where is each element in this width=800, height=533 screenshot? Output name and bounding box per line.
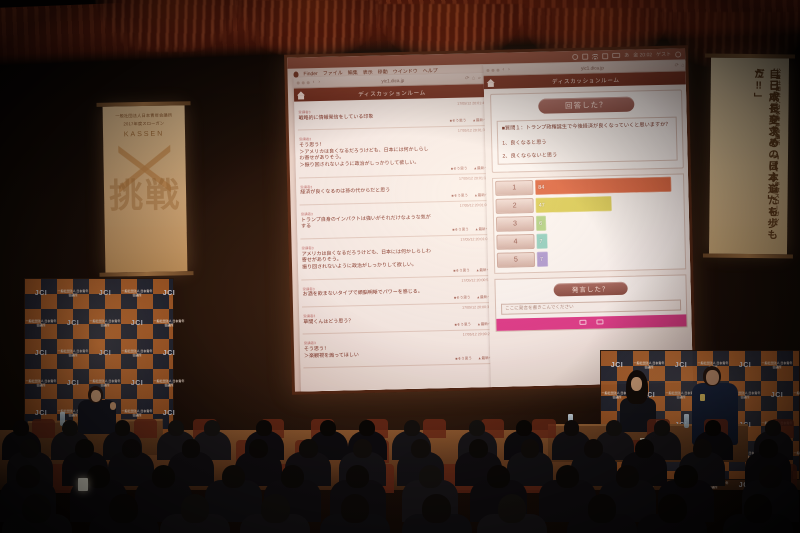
audience-head: [341, 494, 370, 523]
audience-head: [584, 439, 603, 458]
audience-head: [182, 439, 201, 458]
forward-button-right[interactable]: ›: [508, 66, 511, 72]
audience-member: [240, 485, 310, 533]
audience-head: [422, 494, 451, 523]
browser-window-right[interactable]: ‹ › yic1.dica.jp ⟳ ⌂ ディスカッションルーム 回答した？ ■…: [483, 60, 693, 391]
backdrop-tile-org: 一般社団法人 日本青年会議所: [121, 339, 153, 369]
audience-head: [744, 494, 773, 523]
apple-logo-icon[interactable]: [293, 71, 298, 77]
back-button-left[interactable]: ‹: [313, 79, 316, 85]
question-option-1: 1、良くなると思う: [502, 135, 672, 146]
banner-left-subheader: 2017年度スローガン: [103, 120, 185, 128]
banner-left-header: 一般社団法人日本青年会議所: [103, 112, 185, 120]
say-button[interactable]: 発言した？: [554, 282, 628, 297]
poll-bar-fill: 84: [535, 177, 672, 195]
backdrop-tile-org: 一般社団法人 日本青年会議所: [57, 279, 89, 309]
keyboard-icon[interactable]: [596, 320, 603, 325]
agree-button[interactable]: ■そう思う: [451, 194, 468, 199]
backdrop-tile-org: 一般社団法人 日本青年会議所: [25, 309, 57, 339]
projection-screen-frame: あ 金 20:02 ゲスト Finder ファイル 編集 表示 移動 ウインドウ…: [284, 45, 696, 394]
forward-button-left[interactable]: ›: [318, 79, 321, 85]
poll-bar-value: 6: [536, 221, 542, 227]
audience-head: [75, 439, 94, 458]
screenshot-root: 一般社団法人日本青年会議所 2017年度スローガン KASSEN 挑戦 公益社団…: [0, 0, 800, 533]
audience-head: [20, 439, 39, 458]
audience-head: [411, 439, 430, 458]
audience-member: [2, 485, 72, 533]
say-card: 発言した？ ここに発言を書きこんでください: [494, 274, 687, 332]
backdrop-tile-jci: JCI: [121, 369, 153, 399]
backdrop-tile-org: 一般社団法人 日本青年会議所: [793, 381, 800, 411]
audience-member: [402, 485, 472, 533]
poll-bar-row[interactable]: 184: [495, 176, 681, 196]
audience-head: [181, 494, 210, 523]
poll-bar-fill: 7: [536, 234, 548, 249]
audience-head: [122, 439, 141, 458]
poll-bar-row[interactable]: 247: [495, 194, 681, 214]
poll-option-number[interactable]: 1: [495, 180, 533, 196]
menu-finder[interactable]: Finder: [303, 71, 317, 77]
backdrop-tile-org: 一般社団法人 日本青年会議所: [25, 369, 57, 399]
audience-member: [160, 485, 230, 533]
poll-results-chart: 184247364757: [492, 173, 686, 273]
home-icon[interactable]: [297, 91, 305, 99]
wifi-icon[interactable]: [592, 53, 598, 59]
search-icon[interactable]: [675, 51, 681, 57]
question-card: 回答した？ ■質問１：トランプ政権誕生で今後経済が良くなっていくと思いますか？ …: [490, 89, 684, 172]
poll-bar-track: 7: [536, 231, 682, 249]
input-source-icon[interactable]: あ: [624, 52, 629, 59]
reload-icon[interactable]: ⟳: [674, 63, 678, 69]
share-icon[interactable]: ⌂: [472, 75, 475, 81]
reload-icon[interactable]: ⟳: [465, 75, 469, 81]
backdrop-tile-org: 一般社団法人 日本青年会議所: [121, 279, 153, 309]
say-input[interactable]: ここに発言を書きこんでください: [501, 299, 681, 314]
agree-button[interactable]: ■そう思う: [453, 268, 470, 273]
menubar-clock: 金 20:02: [633, 51, 652, 58]
poll-bar-row[interactable]: 36: [496, 212, 682, 232]
backdrop-tile-jci: JCI: [153, 339, 185, 369]
poll-bar-value: 47: [536, 203, 545, 209]
backdrop-tile-jci: JCI: [89, 279, 121, 309]
discussion-post: 17/05/12 20:01:09受講者3トランプ自身のインパクトは強いがそれだ…: [300, 201, 491, 239]
address-bar-left[interactable]: yic1.dica.jp: [324, 76, 462, 84]
poll-option-number[interactable]: 5: [497, 252, 535, 268]
agree-button[interactable]: ■そう思う: [455, 357, 472, 362]
audience-head: [22, 494, 51, 523]
poll-bar-track: 84: [535, 177, 681, 195]
audience-head: [693, 439, 712, 458]
banner-rod: [705, 54, 795, 59]
dropbox-icon[interactable]: [572, 53, 578, 59]
lapel-badge: [700, 394, 705, 401]
airplay-icon[interactable]: [602, 53, 608, 59]
poll-bar-row[interactable]: 57: [497, 248, 683, 268]
backdrop-tile-org: 一般社団法人 日本青年会議所: [57, 339, 89, 369]
home-icon[interactable]: [487, 78, 495, 86]
poll-option-number[interactable]: 3: [496, 216, 534, 232]
audience-head: [249, 439, 268, 458]
audience-head: [109, 494, 138, 523]
backdrop-tile-org: 一般社団法人 日本青年会議所: [153, 369, 185, 399]
backdrop-tile-jci: JCI: [57, 309, 89, 339]
app-title-right: ディスカッションルーム: [552, 75, 620, 85]
audience-head: [498, 494, 527, 523]
audience-head: [353, 439, 372, 458]
audience-head: [658, 494, 687, 523]
audience-head: [588, 494, 617, 523]
discussion-post: 17/05/12 20:01:00受講者3アメリカは良くなるだろうけども、日本に…: [300, 235, 491, 280]
audience-head: [521, 439, 540, 458]
camera-icon[interactable]: [579, 320, 586, 325]
backdrop-tile-jci: JCI: [25, 339, 57, 369]
poll-option-number[interactable]: 2: [496, 198, 534, 214]
poll-panel: 回答した？ ■質問１：トランプ政権誕生で今後経済が良くなっていくと思いますか？ …: [484, 84, 693, 391]
poll-bar-value: 84: [535, 185, 544, 191]
share-icon[interactable]: ⌂: [681, 62, 684, 68]
audience-member: [567, 485, 637, 533]
app-title-left: ディスカッションルーム: [358, 88, 426, 98]
audience-member: [637, 485, 707, 533]
traffic-lights-icon[interactable]: [297, 81, 310, 84]
audience-phone-screen: [78, 478, 88, 491]
traffic-lights-icon[interactable]: [486, 68, 499, 71]
menubar-user[interactable]: ゲスト: [656, 51, 671, 58]
poll-bar-row[interactable]: 47: [496, 230, 682, 250]
address-bar-right[interactable]: yic1.dica.jp: [514, 63, 671, 72]
post-body: そう思う！ ＞アメリカは良くなるだろうけども、日本には何かしらし わ寄せがありそ…: [299, 138, 488, 169]
banner-left-kanji: 挑戦: [104, 167, 187, 217]
audience-member: [320, 485, 390, 533]
backdrop-tile-jci: JCI: [153, 279, 185, 309]
poll-bar-fill: 47: [535, 196, 612, 213]
backdrop-tile-jci: JCI: [25, 279, 57, 309]
backdrop-tile-org: 一般社団法人 日本青年会議所: [153, 309, 185, 339]
discussion-post: 17/05/12 20:00:21受講者3そう思う！ ＞楽観視を煽ってほしい■そ…: [303, 330, 494, 368]
back-button-right[interactable]: ‹: [502, 67, 505, 73]
audience: [0, 415, 800, 533]
agree-button[interactable]: ■そう思う: [455, 323, 472, 328]
banner-rod: [96, 101, 190, 107]
backdrop-tile-jci: JCI: [761, 381, 793, 411]
audience-head: [299, 439, 318, 458]
agree-button[interactable]: ■そう思う: [452, 228, 469, 233]
poll-bar-fill: 6: [536, 216, 546, 231]
agree-button[interactable]: ■そう思う: [451, 166, 468, 171]
audience-member: [723, 485, 793, 533]
mobile-toolbar: [496, 314, 686, 330]
audience-head: [469, 439, 488, 458]
backdrop-tile-org: 一般社団法人 日本青年会議所: [761, 351, 793, 381]
poll-bar-track: 7: [537, 249, 683, 267]
poll-option-number[interactable]: 4: [496, 234, 534, 250]
audience-member: [89, 485, 159, 533]
question-box: ■質問１：トランプ政権誕生で今後経済が良くなっていくと思いますか？ 1、良くなる…: [497, 117, 678, 165]
poll-bar-fill: 7: [537, 252, 549, 267]
banner-left: 一般社団法人日本青年会議所 2017年度スローガン KASSEN 挑戦: [103, 105, 188, 272]
discussion-feed[interactable]: 17/05/12 20:01:49受講者3戦略的に情報発信をしている印象■そう思…: [294, 97, 497, 392]
poll-bar-value: 7: [536, 239, 542, 245]
poll-bar-track: 6: [536, 213, 682, 231]
backdrop-tile-org: 一般社団法人 日本青年会議所: [89, 309, 121, 339]
question-text: ■質問１：トランプ政権誕生で今後経済が良くなっていくと思いますか？: [502, 122, 672, 134]
display-icon[interactable]: [582, 53, 588, 59]
answered-button[interactable]: 回答した？: [538, 97, 634, 114]
backdrop-tile-jci: JCI: [121, 309, 153, 339]
banner-right-line2: 「日本を変えるのはオレたちだ‼」: [750, 68, 782, 244]
browser-window-left[interactable]: ‹ › yic1.dica.jp ⟳ ⌂ » + ディスカッションルーム 17/…: [294, 73, 497, 392]
battery-icon[interactable]: [612, 53, 620, 58]
backdrop-tile-jci: JCI: [89, 339, 121, 369]
audience-head: [759, 439, 778, 458]
projected-desktop: あ 金 20:02 ゲスト Finder ファイル 編集 表示 移動 ウインドウ…: [287, 48, 693, 391]
tabs-icon[interactable]: »: [478, 75, 481, 81]
banner-right: 公益社団法人日本青年会議所 2017年度スローガン 自己成長を求め「日本道」を歩…: [709, 58, 789, 255]
agree-button[interactable]: ■そう思う: [454, 295, 471, 300]
poll-bar-value: 7: [537, 257, 543, 263]
audience-member: [477, 485, 547, 533]
agree-button[interactable]: ■そう思う: [450, 119, 467, 124]
audience-head: [261, 494, 290, 523]
discussion-post: 17/05/12 20:01:32受講者3そう思う！ ＞アメリカは良くなるだろう…: [298, 126, 489, 178]
question-option-2: 2、良くならないと思う: [502, 148, 672, 159]
audience-head: [635, 439, 654, 458]
poll-bar-track: 47: [535, 195, 681, 213]
backdrop-tile-jci: JCI: [793, 351, 800, 381]
